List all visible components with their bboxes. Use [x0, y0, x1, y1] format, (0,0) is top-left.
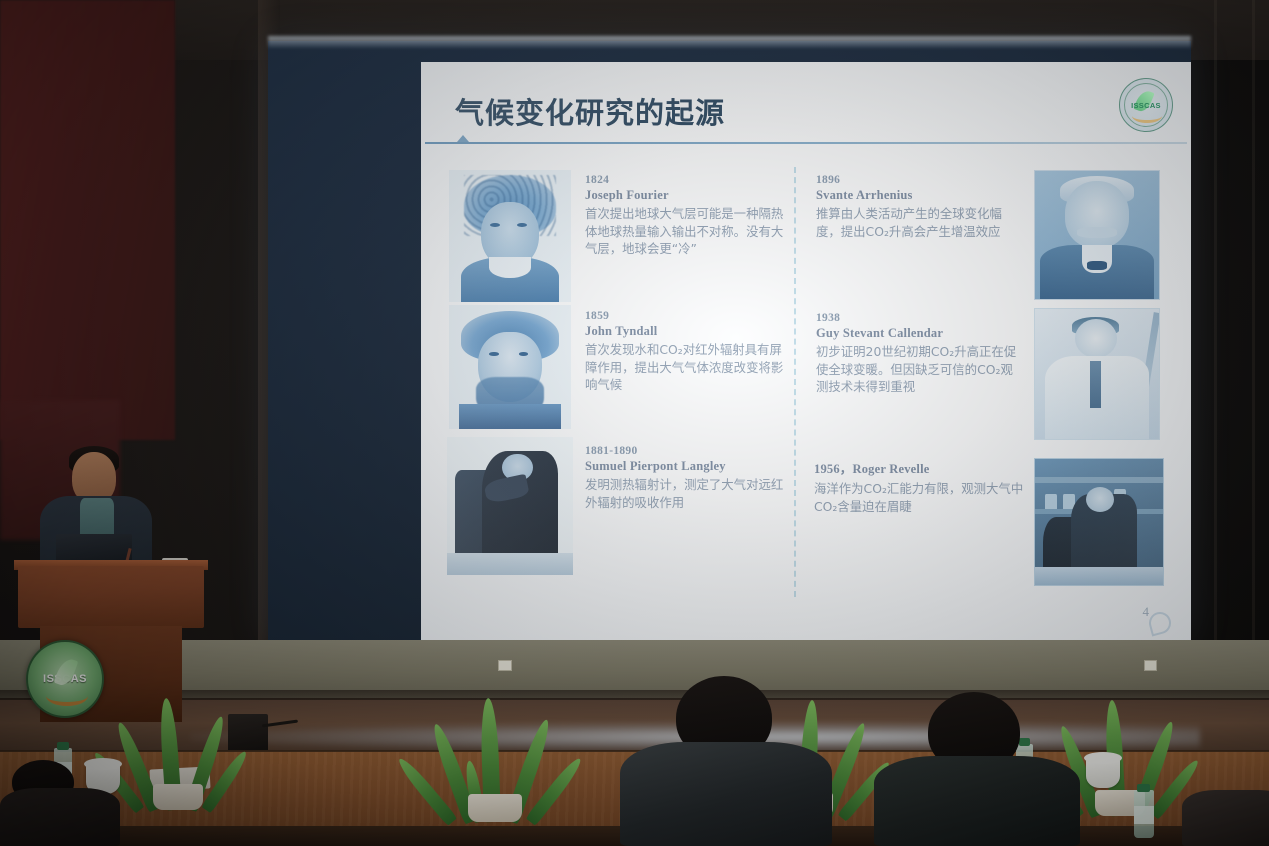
plant-pot	[153, 784, 203, 810]
teacup-lid	[1084, 752, 1122, 764]
slide-title: 气候变化研究的起源	[455, 90, 725, 132]
entry-year: 1938	[816, 312, 1021, 324]
logo-arc	[1132, 109, 1162, 123]
body-shape	[459, 404, 561, 429]
bowtie-shape	[1087, 261, 1107, 270]
logo-text: ISSCAS	[1131, 101, 1161, 110]
entry-year: 1859	[585, 310, 785, 322]
moustache-shape	[1077, 227, 1117, 237]
potted-plant	[118, 670, 238, 810]
podium-front-panel	[18, 566, 204, 628]
head-shape	[1065, 181, 1129, 248]
wall-outlet	[1144, 660, 1157, 671]
entry-name: Sumuel Pierpont Langley	[585, 459, 790, 474]
lab-bench	[1035, 567, 1163, 585]
red-curtain-left	[0, 0, 175, 440]
teacup-lid	[84, 758, 122, 770]
entry-name: 1956，Roger Revelle	[814, 458, 1024, 477]
potted-plant	[430, 672, 560, 822]
entry-year: 1881-1890	[585, 445, 790, 457]
tie-shape	[1090, 361, 1101, 408]
head-shape	[1075, 319, 1117, 358]
audience-member-body	[1182, 790, 1269, 846]
entry-year: 1896	[816, 174, 1016, 186]
portrait-artwork	[449, 305, 571, 429]
entry-1859-tyndall: 1859 John Tyndall 首次发现水和CO₂对红外辐射具有屏障作用，提…	[585, 310, 785, 394]
conference-hall-scene: 气候变化研究的起源 ISSCAS	[0, 0, 1269, 846]
projection-screen: 气候变化研究的起源 ISSCAS	[268, 41, 1191, 642]
podium-isscas-logo: ISSCAS	[26, 640, 104, 718]
isscas-logo: ISSCAS	[1119, 78, 1173, 132]
portrait-artwork	[1035, 309, 1159, 439]
portrait-samuel-pierpont-langley	[447, 437, 573, 575]
screen-top-sheen	[268, 36, 1191, 48]
entry-description: 海洋作为CO₂汇能力有限，观测大气中CO₂含量迫在眉睫	[814, 480, 1024, 515]
entry-description: 发明测热辐射计，测定了大气对远红外辐射的吸收作用	[585, 476, 790, 511]
plant-pot	[468, 794, 522, 822]
entry-1938-callendar: 1938 Guy Stevant Callendar 初步证明20世纪初期CO₂…	[816, 312, 1021, 396]
logo-arc	[46, 686, 88, 706]
entry-1824-fourier: 1824 Joseph Fourier 首次提出地球大气层可能是一种隔热体地球热…	[585, 174, 785, 258]
head-shape	[1086, 487, 1114, 512]
entry-name: Svante Arrhenius	[816, 188, 1016, 203]
lab-shelf-upper	[1035, 477, 1163, 483]
eye-right	[519, 352, 529, 356]
slide-page-number: 4	[1143, 604, 1150, 620]
entry-name: Joseph Fourier	[585, 188, 785, 203]
entry-name: Guy Stevant Callendar	[816, 326, 1021, 341]
eye-left	[489, 352, 499, 356]
title-underline-rule	[425, 142, 1187, 144]
entry-description: 首次提出地球大气层可能是一种隔热体地球热量输入输出不对称。没有大气层，地球会更“…	[585, 205, 785, 258]
wall-outlet	[498, 660, 512, 671]
eye-right	[517, 223, 527, 227]
column-divider-dashed	[794, 167, 796, 597]
bottle-label	[1134, 806, 1154, 824]
portrait-joseph-fourier	[449, 170, 571, 302]
bottle-cap	[1137, 784, 1150, 792]
portrait-artwork	[447, 437, 573, 575]
portrait-artwork	[1035, 171, 1159, 299]
audience-member-body	[874, 756, 1080, 846]
portrait-roger-revelle	[1034, 458, 1164, 586]
floor-shape	[447, 553, 573, 575]
portrait-artwork	[449, 170, 571, 302]
entry-description: 初步证明20世纪初期CO₂升高正在促使全球变暖。但因缺乏可信的CO₂观测技术未得…	[816, 343, 1021, 396]
entry-description: 推算由人类活动产生的全球变化幅度，提出CO₂升高会产生增温效应	[816, 205, 1016, 240]
audience-member-body	[620, 742, 832, 846]
eye-left	[490, 223, 500, 227]
entry-description: 首次发现水和CO₂对红外辐射具有屏障作用，提出大气气体浓度改变将影响气候	[585, 341, 785, 394]
portrait-svante-arrhenius	[1034, 170, 1160, 300]
slide-corner-decoration	[1147, 610, 1174, 637]
audience-member-body	[0, 788, 120, 846]
wall-seam-right	[1214, 0, 1217, 660]
bottle-cap	[1019, 738, 1030, 746]
entry-year: 1824	[585, 174, 785, 186]
portrait-john-tyndall	[449, 305, 571, 429]
collar-shape	[489, 257, 530, 278]
portrait-artwork	[1035, 459, 1163, 585]
portrait-guy-stevant-callendar	[1034, 308, 1160, 440]
wall-seam-far-right	[1252, 0, 1255, 660]
entry-name: John Tyndall	[585, 324, 785, 339]
entry-1956-revelle: 1956，Roger Revelle 海洋作为CO₂汇能力有限，观测大气中CO₂…	[814, 458, 1024, 515]
bottle-cap	[57, 742, 69, 750]
presentation-slide: 气候变化研究的起源 ISSCAS	[421, 62, 1191, 642]
entry-1896-arrhenius: 1896 Svante Arrhenius 推算由人类活动产生的全球变化幅度，提…	[816, 174, 1016, 240]
title-triangle-marker	[457, 135, 469, 142]
entry-1881-1890-langley: 1881-1890 Sumuel Pierpont Langley 发明测热辐射…	[585, 445, 790, 511]
